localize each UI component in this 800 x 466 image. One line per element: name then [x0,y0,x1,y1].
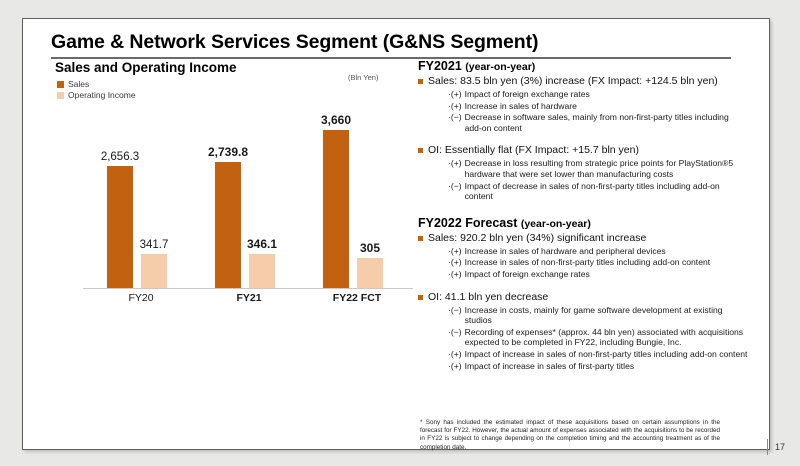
sub-bullet: ·(+) Impact of foreign exchange rates [448,89,748,100]
legend-item-sales: Sales [57,79,136,90]
bar-operating-income-fy21: 346.1 [249,254,275,288]
bar-sales-fy20: 2,656.3 [107,166,133,288]
section-heading-fy2021-main: FY2021 [418,59,462,73]
bullet-text: OI: Essentially flat (FX Impact: +15.7 b… [428,144,748,157]
bullet-fy2021-sales: Sales: 83.5 bln yen (3%) increase (FX Im… [418,75,748,88]
sub-bullet: ·(+) Impact of increase in sales of non-… [448,349,748,360]
page-number: 17 [775,442,785,452]
category-label-fy20: FY20 [93,292,189,304]
category-label-fy21: FY21 [201,292,297,304]
bar-operating-income-fy20: 341.7 [141,254,167,288]
sub-bullet-text: Decrease in software sales, mainly from … [465,112,748,133]
sub-bullet: ·(+) Increase in sales of non-first-part… [448,257,748,268]
page-number-divider [767,439,768,455]
sub-bullet-marker: ·(+) [448,158,462,179]
slide: Game & Network Services Segment (G&NS Se… [22,18,770,450]
sub-bullet: ·(−) Decrease in software sales, mainly … [448,112,748,133]
chart-legend: Sales Operating Income [57,79,136,101]
bar-group-fy21: 2,739.8 346.1 FY21 [201,120,297,288]
legend-label-sales: Sales [68,79,89,90]
sub-bullet: ·(+) Increase in sales of hardware [448,101,748,112]
section-heading-fy2021-sub: (year-on-year) [465,61,535,73]
sub-bullet-marker: ·(+) [448,269,462,280]
bar-value-sales-fy22-fct: 3,660 [321,113,351,127]
bar-value-operating-income-fy21: 346.1 [247,237,277,251]
bullet-text: OI: 41.1 bln yen decrease [428,291,748,304]
sub-bullet-text: Increase in costs, mainly for game softw… [465,305,748,326]
square-bullet-icon [418,79,423,84]
sub-bullet-marker: ·(−) [448,181,462,202]
sub-bullet: ·(+) Increase in sales of hardware and p… [448,246,748,257]
bar-group-fy22-fct: 3,660 305 FY22 FCT [309,120,405,288]
sub-bullet-marker: ·(+) [448,246,462,257]
sub-bullet: ·(+) Impact of foreign exchange rates [448,269,748,280]
spacer [418,133,748,142]
sub-bullet-marker: ·(+) [448,89,462,100]
sub-bullet-marker: ·(+) [448,361,462,372]
section-heading-fy2022-main: FY2022 Forecast [418,216,517,230]
bar-value-operating-income-fy20: 341.7 [140,239,169,251]
section-heading-fy2022-sub: (year-on-year) [521,218,591,230]
bullet-text: Sales: 920.2 bln yen (34%) significant i… [428,232,748,245]
footnote: * Sony has included the estimated impact… [420,419,720,452]
bar-value-sales-fy21: 2,739.8 [208,145,248,159]
chart-axis-line [83,288,413,289]
bar-operating-income-fy22-fct: 305 [357,258,383,288]
sub-bullet-text: Impact of increase in sales of first-par… [465,361,748,372]
bar-value-sales-fy20: 2,656.3 [101,151,139,163]
sub-bullet: ·(−) Increase in costs, mainly for game … [448,305,748,326]
sub-bullet-marker: ·(+) [448,349,462,360]
bar-value-operating-income-fy22-fct: 305 [360,241,380,255]
slide-header: Game & Network Services Segment (G&NS Se… [51,31,741,59]
bar-group-fy20: 2,656.3 341.7 FY20 [93,120,189,288]
chart-title: Sales and Operating Income [55,60,237,75]
legend-item-operating-income: Operating Income [57,90,136,101]
bar-sales-fy21: 2,739.8 [215,162,241,288]
bullet-fy2022-sales: Sales: 920.2 bln yen (34%) significant i… [418,232,748,245]
sub-bullet-text: Impact of foreign exchange rates [465,89,748,100]
sub-bullet-text: Recording of expenses* (approx. 44 bln y… [465,327,748,348]
square-bullet-icon [418,148,423,153]
bullet-text: Sales: 83.5 bln yen (3%) increase (FX Im… [428,75,748,88]
legend-swatch-sales [57,81,64,88]
square-bullet-icon [418,236,423,241]
sub-bullet: ·(+) Decrease in loss resulting from str… [448,158,748,179]
sub-bullet-marker: ·(−) [448,112,462,133]
spacer [418,202,748,216]
section-heading-fy2022-forecast: FY2022 Forecast (year-on-year) [418,216,748,230]
square-bullet-icon [418,295,423,300]
bar-sales-fy22-fct: 3,660 [323,130,349,288]
sub-bullet-text: Impact of foreign exchange rates [465,269,748,280]
sub-bullet-text: Decrease in loss resulting from strategi… [465,158,748,179]
page-title: Game & Network Services Segment (G&NS Se… [51,31,741,54]
bar-chart: 2,656.3 341.7 FY20 2,739.8 346.1 FY21 3,… [83,119,413,289]
chart-unit-label: (Bln Yen) [348,73,378,82]
sub-bullet-text: Impact of increase in sales of non-first… [465,349,748,360]
section-heading-fy2021: FY2021 (year-on-year) [418,59,748,73]
sub-bullet-text: Increase in sales of hardware and periph… [465,246,748,257]
sub-bullet: ·(+) Impact of increase in sales of firs… [448,361,748,372]
sub-bullet-marker: ·(−) [448,327,462,348]
legend-label-operating-income: Operating Income [68,90,136,101]
sub-bullet: ·(−) Impact of decrease in sales of non-… [448,181,748,202]
sub-bullet-marker: ·(+) [448,257,462,268]
commentary-panel: FY2021 (year-on-year) Sales: 83.5 bln ye… [418,59,748,371]
spacer [418,280,748,289]
legend-swatch-operating-income [57,92,64,99]
sub-bullet-text: Increase in sales of hardware [465,101,748,112]
sub-bullet-marker: ·(−) [448,305,462,326]
sub-bullet: ·(−) Recording of expenses* (approx. 44 … [448,327,748,348]
sub-bullet-marker: ·(+) [448,101,462,112]
sub-bullet-text: Impact of decrease in sales of non-first… [465,181,748,202]
category-label-fy22-fct: FY22 FCT [309,292,405,304]
bullet-fy2022-oi: OI: 41.1 bln yen decrease [418,291,748,304]
sub-bullet-text: Increase in sales of non-first-party tit… [465,257,748,268]
bullet-fy2021-oi: OI: Essentially flat (FX Impact: +15.7 b… [418,144,748,157]
